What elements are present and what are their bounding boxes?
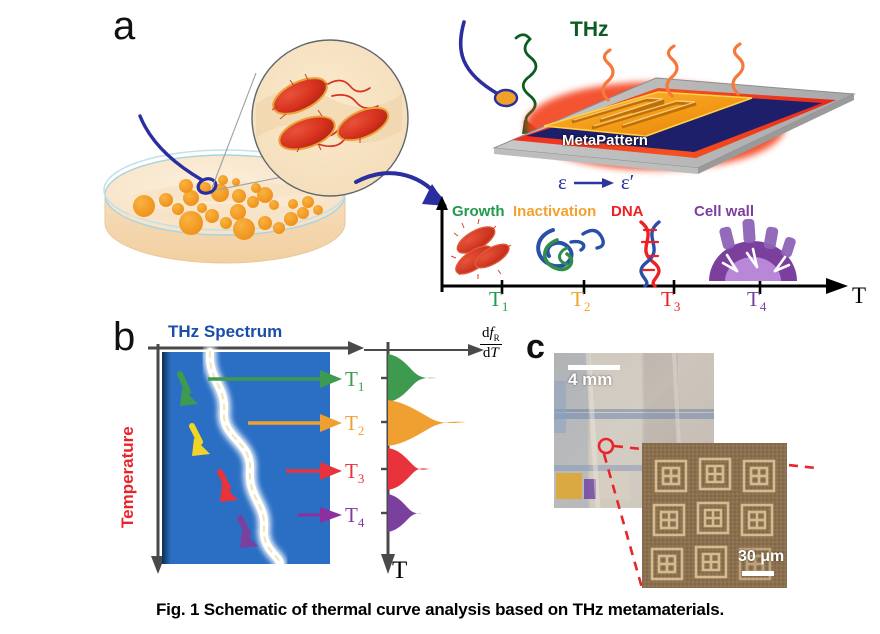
timeline-tick-t1: T1 [489,287,508,315]
timeline-label-growth: Growth [452,203,505,220]
panel-b-derivative-axis-label: dfR dT [480,326,502,362]
panel-b-trace-t2-base: T [345,411,358,435]
timeline-growth-icon [448,218,520,284]
timeline-label-inactivation: Inactivation [513,203,596,220]
permittivity-transition-label: ε ε′ [558,170,634,195]
panel-c-sem-inset [642,443,787,588]
timeline-tick-t2-base: T [571,287,584,311]
panel-b-plot-y-axis-label: T [392,557,407,585]
panel-b-trace-t1-base: T [345,367,358,391]
timeline-tick-t4-sub: 4 [760,299,767,314]
derivative-num-d: d [482,325,490,341]
timeline-dna-icon [625,218,683,288]
panel-c-photo-scalebar-label: 4 mm [568,370,612,390]
panel-b-label: b [113,317,135,357]
metamaterial-chip-illustration [450,8,880,188]
timeline-tick-t4-base: T [747,287,760,311]
derivative-numerator: dfR [480,326,502,345]
derivative-num-sub: R [494,333,500,343]
timeline-tick-t3-base: T [661,287,674,311]
timeline-inactivation-icon [527,222,607,284]
panel-b-y-axis-label: Temperature [118,426,138,528]
timeline-tick-t1-sub: 1 [502,299,509,314]
permittivity-arrow-icon [574,177,614,189]
timeline-tick-t4: T4 [747,287,766,315]
peak-t3 [388,448,430,490]
panel-c-label: c [526,327,545,367]
peak-t1 [388,354,438,402]
timeline-tick-t3-sub: 3 [674,299,681,314]
timeline-axis-label-T: T [852,283,866,309]
panel-a-petri-dish-illustration [60,20,460,290]
timeline-tick-t3: T3 [661,287,680,315]
timeline-tick-t2: T2 [571,287,590,315]
panel-b-derivative-plot [360,338,535,588]
panel-b-trace-t3-base: T [345,459,358,483]
timeline-label-cell-wall: Cell wall [694,203,754,220]
derivative-den-T: T [490,345,498,361]
derivative-denominator: dT [483,345,499,362]
figure-caption: Fig. 1 Schematic of thermal curve analys… [0,600,880,620]
timeline-label-dna: DNA [611,203,644,220]
panel-c-sem-scalebar-label: 30 μm [738,548,784,566]
timeline-tick-t2-sub: 2 [584,299,591,314]
peak-t2 [388,400,468,446]
timeline-cell-wall-icon [703,215,803,287]
panel-b-trace-t4-base: T [345,503,358,527]
permittivity-epsilon-prime: ε′ [621,170,634,195]
figure-panel-container: a [0,0,880,634]
metapattern-label: MetaPattern [562,132,648,149]
peak-t4 [388,494,423,532]
thz-label: THz [570,18,609,42]
timeline-tick-t1-base: T [489,287,502,311]
permittivity-epsilon: ε [558,170,567,195]
panel-b-connector-arrows [208,365,358,545]
